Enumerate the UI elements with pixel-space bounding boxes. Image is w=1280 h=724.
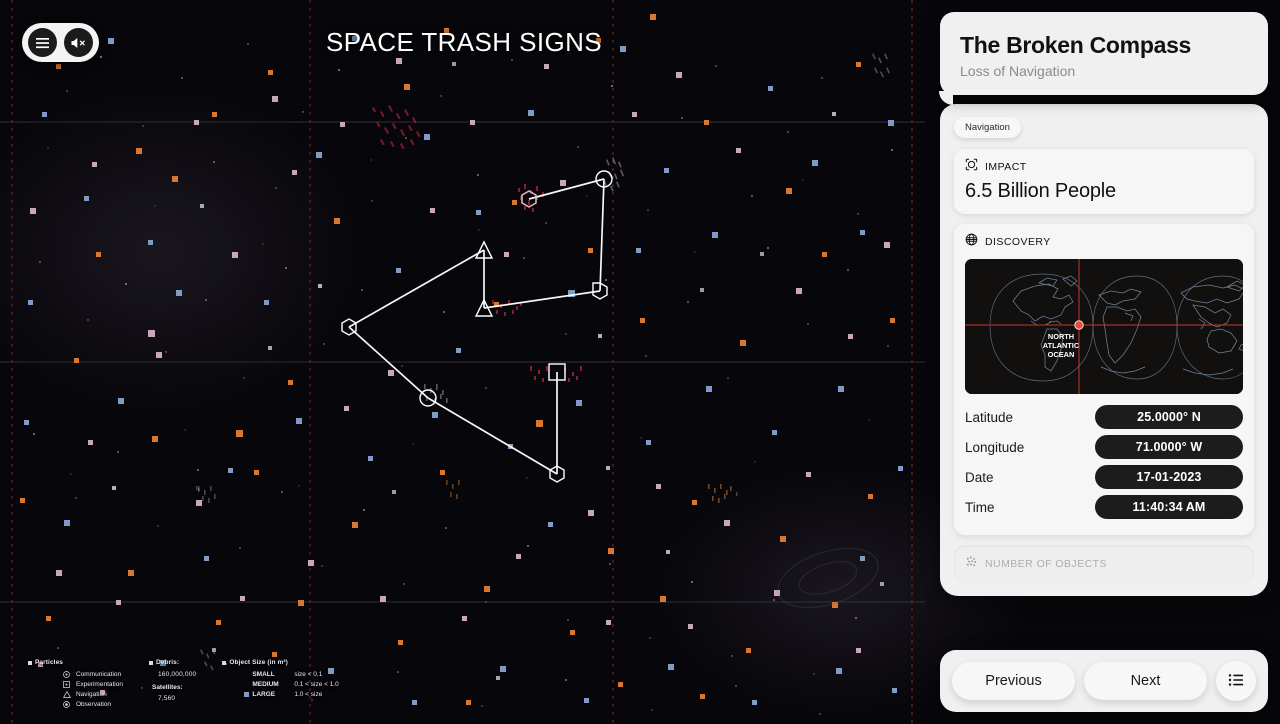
data-row-date: Date 17-01-2023	[965, 465, 1243, 489]
number-of-objects-card[interactable]: NUMBER OF OBJECTS	[954, 545, 1254, 583]
particle-cluster-icon	[965, 555, 978, 573]
size-row-large: LARGE 1.0 < size	[252, 690, 338, 700]
coordinate-data-rows: Latitude 25.0000° N Longitude 71.0000° W…	[965, 405, 1243, 519]
legend-satellites-value: 7,560	[149, 694, 196, 704]
previous-button[interactable]: Previous	[952, 662, 1075, 700]
page-title: SPACE TRASH SIGNS	[0, 27, 928, 58]
space-trash-signs-app: SPACE TRASH SIGNS	[0, 0, 1280, 724]
list-icon	[1228, 673, 1245, 690]
top-control-bar	[22, 23, 99, 62]
data-row-longitude: Longitude 71.0000° W	[965, 435, 1243, 459]
triangle-icon	[62, 691, 71, 698]
number-of-objects-label: NUMBER OF OBJECTS	[985, 558, 1107, 570]
record-navigation-bar: Previous Next	[940, 650, 1268, 712]
date-label: Date	[965, 470, 994, 485]
legend-item-observation: Observation	[62, 700, 123, 710]
legend-marker-icon	[28, 661, 32, 665]
legend-item-experimentation: Experimentation	[62, 680, 123, 690]
circle-ring-icon	[62, 701, 71, 708]
size-row-medium: MEDIUM 0.1 < size < 1.0	[252, 680, 338, 690]
record-body-card: Navigation IMPACT 6.5 Billion People	[940, 104, 1268, 596]
latitude-label: Latitude	[965, 410, 1013, 425]
legend-counts: Debris: 160,000,000 Satellites: 7,560	[149, 658, 196, 704]
date-value: 17-01-2023	[1095, 465, 1243, 489]
record-title: The Broken Compass	[960, 32, 1248, 59]
legend-marker-icon	[149, 661, 153, 665]
hamburger-menu-icon	[35, 37, 50, 49]
number-of-objects-header: NUMBER OF OBJECTS	[965, 555, 1243, 573]
discovery-card: DISCOVERY	[954, 224, 1254, 535]
legend-satellites-heading: Satellites:	[149, 683, 196, 693]
record-subtitle: Loss of Navigation	[960, 63, 1248, 79]
time-value: 11:40:34 AM	[1095, 495, 1243, 519]
longitude-value: 71.0000° W	[1095, 435, 1243, 459]
globe-icon	[965, 233, 978, 251]
sound-toggle-button[interactable]	[64, 28, 93, 57]
discovery-map[interactable]: NORTH ATLANTIC OCEAN	[965, 259, 1243, 394]
legend-item-communication: Communication	[62, 670, 123, 680]
latitude-value: 25.0000° N	[1095, 405, 1243, 429]
impact-header: IMPACT	[965, 158, 1243, 176]
legend: Particles Communication Experimentation	[28, 658, 339, 710]
world-map-svg: NORTH ATLANTIC OCEAN	[965, 259, 1243, 394]
map-label-line-3: OCEAN	[1048, 350, 1075, 359]
list-view-button[interactable]	[1216, 661, 1256, 701]
legend-marker-icon	[222, 661, 226, 665]
square-dot-icon	[62, 681, 71, 688]
focus-target-icon	[965, 158, 978, 176]
legend-object-size-heading: Object Size (in m²)	[222, 658, 338, 668]
impact-value: 6.5 Billion People	[965, 180, 1243, 203]
tag-list: Navigation	[954, 117, 1254, 138]
legend-particles: Particles Communication Experimentation	[28, 658, 123, 710]
speaker-muted-icon	[70, 36, 87, 50]
data-row-latitude: Latitude 25.0000° N	[965, 405, 1243, 429]
impact-label: IMPACT	[985, 161, 1027, 173]
impact-card: IMPACT 6.5 Billion People	[954, 149, 1254, 214]
discovery-label: DISCOVERY	[985, 236, 1051, 248]
data-row-time: Time 11:40:34 AM	[965, 495, 1243, 519]
record-header-card: The Broken Compass Loss of Navigation	[940, 12, 1268, 95]
map-label-line-1: NORTH	[1048, 332, 1074, 341]
legend-debris-heading: Debris:	[149, 658, 196, 668]
circle-dot-icon	[62, 671, 71, 678]
info-panel: The Broken Compass Loss of Navigation Na…	[940, 12, 1268, 596]
legend-item-navigation: Navigation	[62, 690, 123, 700]
longitude-label: Longitude	[965, 440, 1024, 455]
legend-particles-heading: Particles	[28, 658, 123, 668]
legend-object-size: Object Size (in m²) SMALL size < 0.1 MED…	[222, 658, 338, 700]
hamburger-menu-button[interactable]	[28, 28, 57, 57]
legend-debris-value: 160,000,000	[149, 670, 196, 680]
next-button[interactable]: Next	[1084, 662, 1207, 700]
tag-navigation[interactable]: Navigation	[954, 117, 1021, 138]
discovery-header: DISCOVERY	[965, 233, 1243, 251]
time-label: Time	[965, 500, 995, 515]
map-label-line-2: ATLANTIC	[1043, 341, 1080, 350]
size-row-small: SMALL size < 0.1	[252, 670, 338, 680]
